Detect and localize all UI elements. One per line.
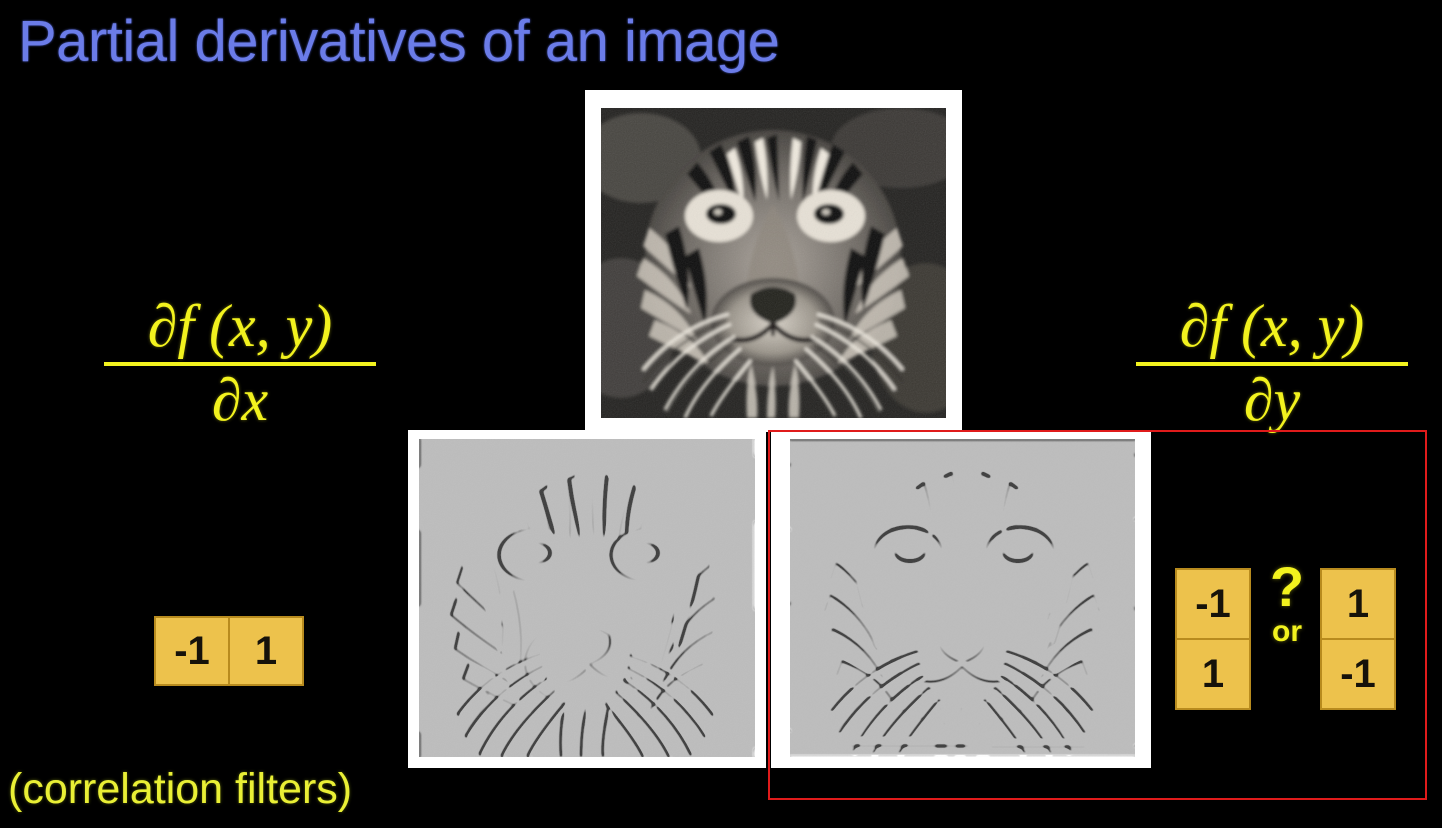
formula-dy-numerator: ∂f (x, y) (1136, 296, 1408, 360)
or-label: or (1257, 617, 1317, 647)
caption-correlation-filters: (correlation filters) (8, 765, 352, 814)
derivative-x-svg (419, 439, 755, 757)
kernel-dy-b-cell-1: -1 (1322, 640, 1394, 708)
kernel-choice-group: ? or (1257, 560, 1317, 647)
kernel-dx-cell-0: -1 (156, 618, 228, 684)
kernel-dy-a-cell-1: 1 (1177, 640, 1249, 708)
tiger-photo-svg (601, 108, 946, 418)
formula-dx-fraction-bar (104, 362, 376, 366)
kernel-dx-cell-1: 1 (230, 618, 302, 684)
formula-dy-fraction-bar (1136, 362, 1408, 366)
derivative-x-image (419, 439, 755, 757)
original-image (601, 108, 946, 418)
kernel-dx[interactable]: -1 1 (154, 616, 304, 686)
original-image-frame (585, 90, 962, 432)
page-title: Partial derivatives of an image (18, 8, 779, 75)
formula-dx-numerator: ∂f (x, y) (104, 296, 376, 360)
derivative-y-svg (790, 439, 1135, 757)
formula-dy-denominator: ∂y (1136, 370, 1408, 430)
formula-dx-denominator: ∂x (104, 370, 376, 430)
derivative-y-image (790, 439, 1135, 757)
kernel-dy-b-cell-0: 1 (1322, 570, 1394, 638)
kernel-dy-option-a[interactable]: -1 1 (1175, 568, 1251, 710)
kernel-dy-option-b[interactable]: 1 -1 (1320, 568, 1396, 710)
formula-partial-dy: ∂f (x, y) ∂y (1136, 296, 1408, 430)
derivative-y-image-frame (771, 430, 1151, 768)
kernel-dy-a-cell-0: -1 (1177, 570, 1249, 638)
derivative-x-image-frame (408, 430, 766, 768)
formula-partial-dx: ∂f (x, y) ∂x (104, 296, 376, 430)
slide-canvas: Partial derivatives of an image ∂f (x, y… (0, 0, 1442, 828)
question-mark: ? (1257, 560, 1317, 613)
